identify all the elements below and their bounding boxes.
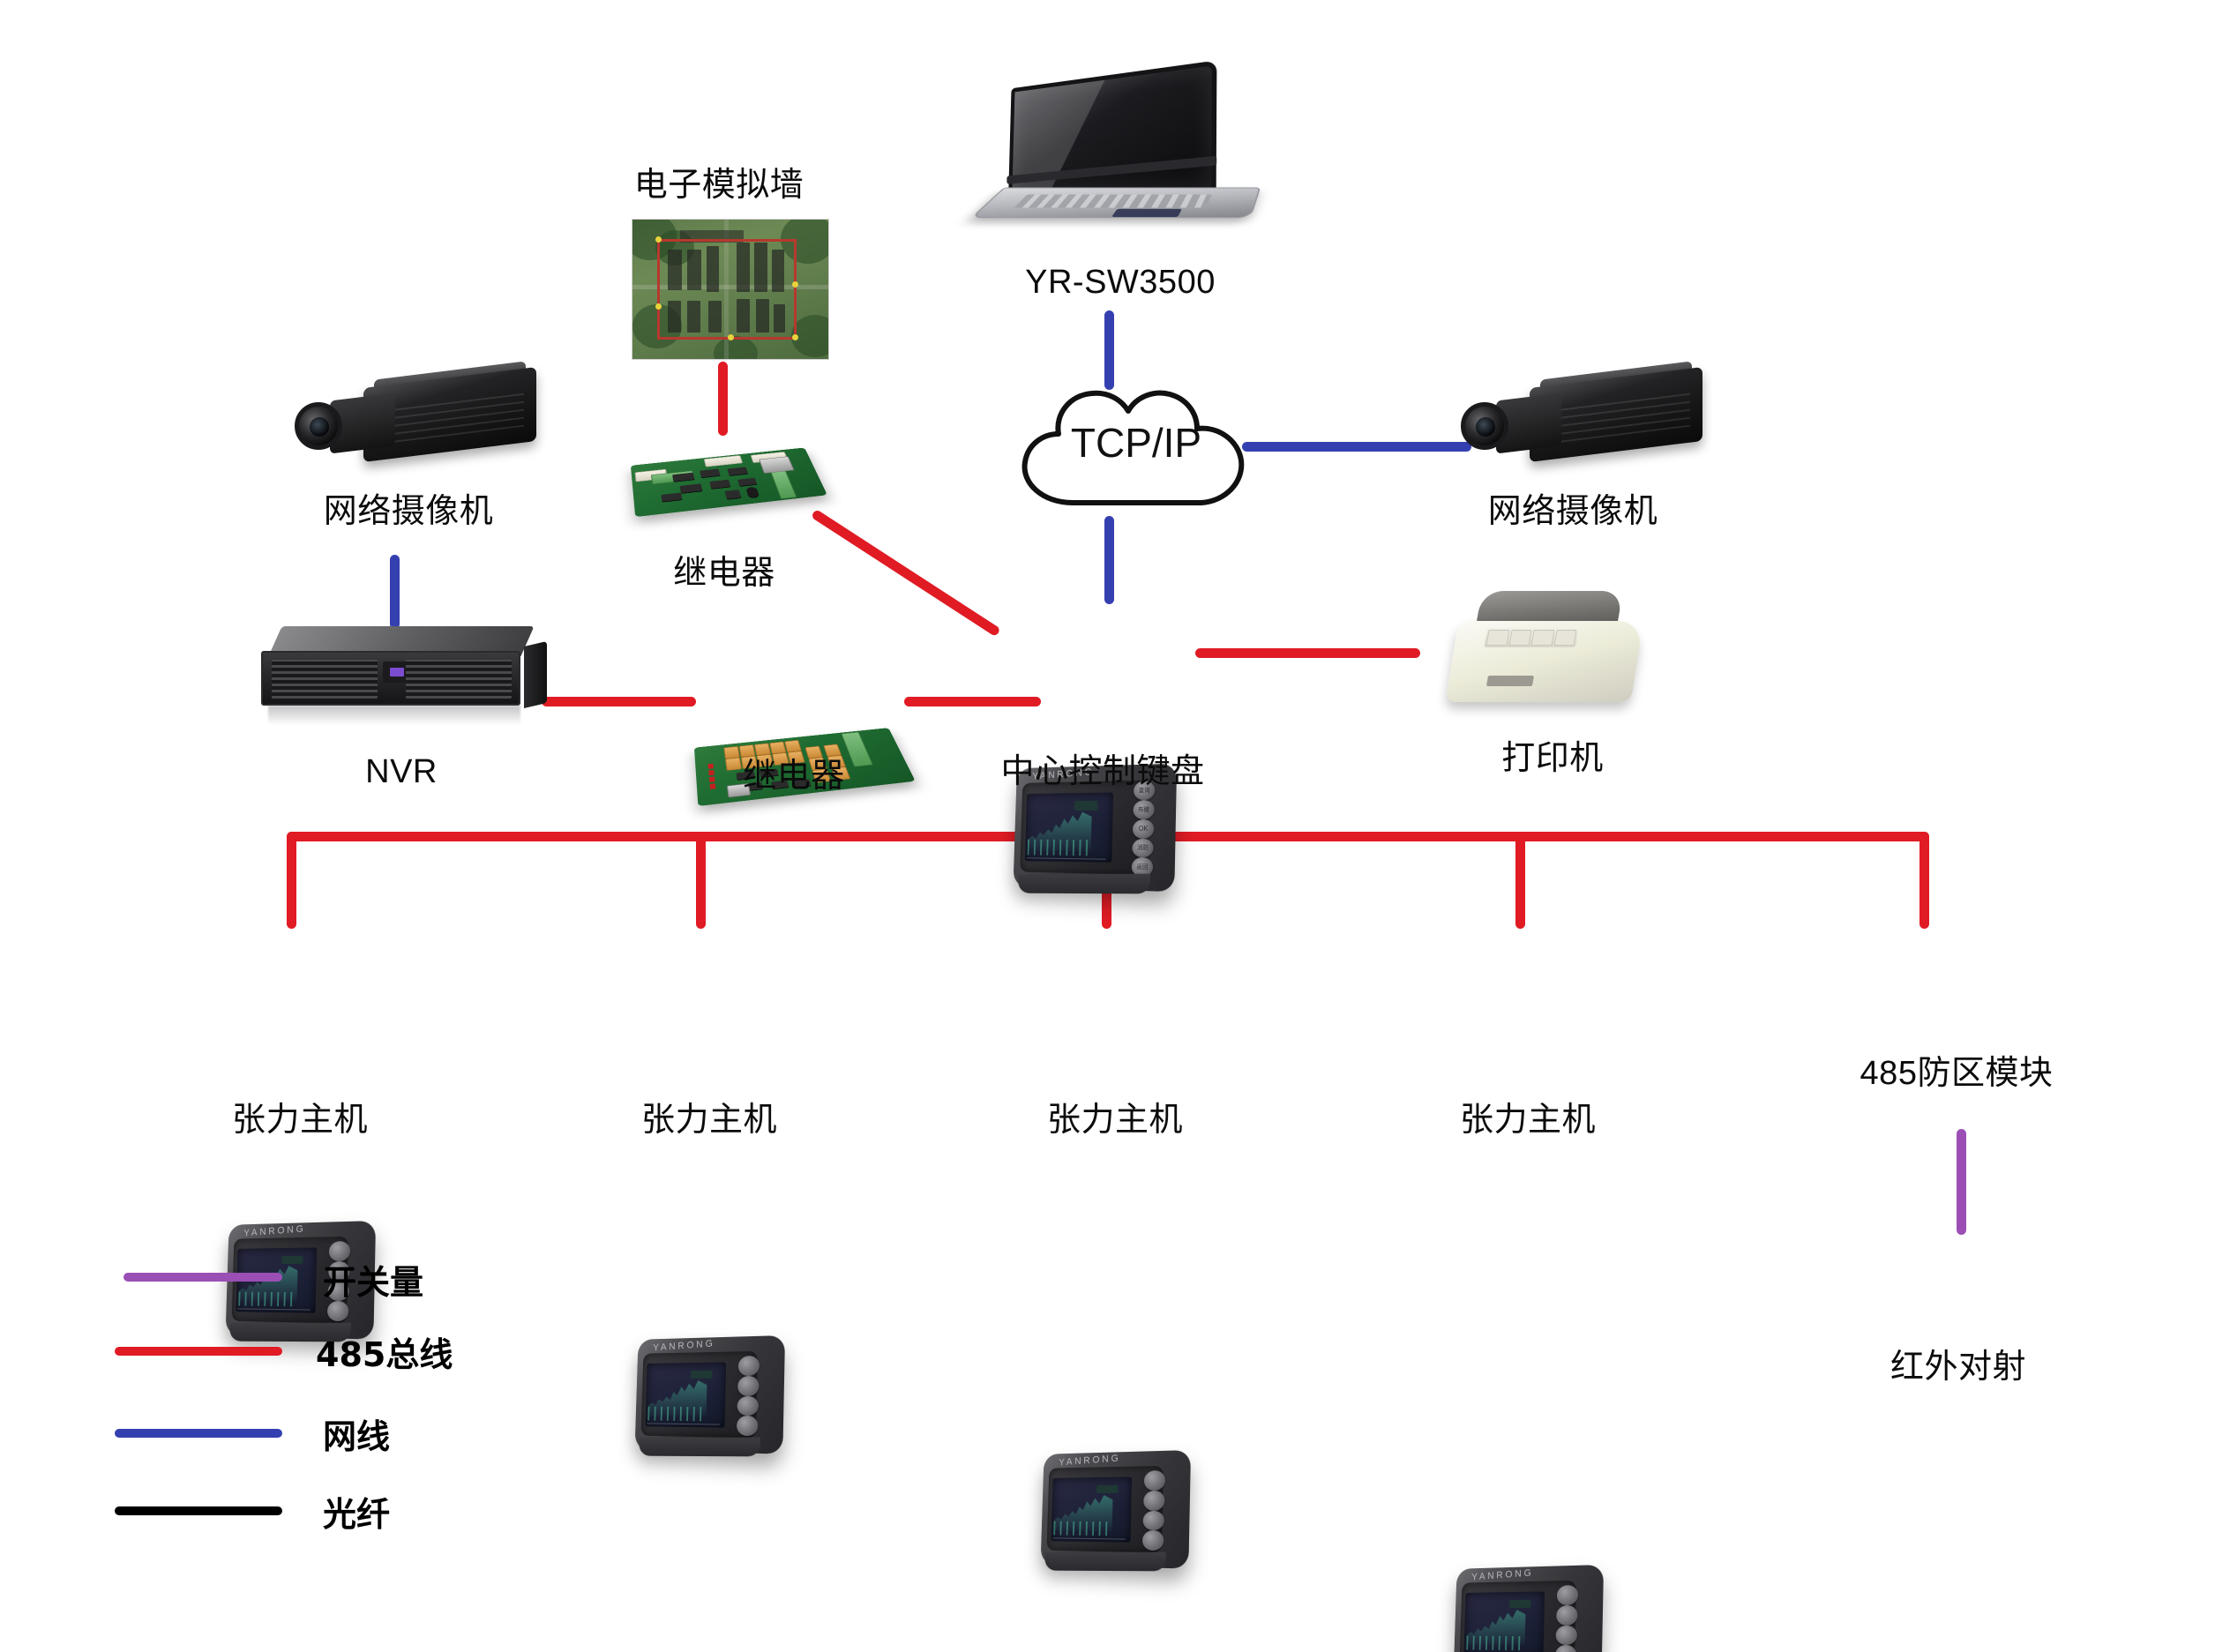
label-sim-wall: 电子模拟墙 <box>609 168 829 205</box>
node-tension-host[interactable]: YANRONG <box>1034 1452 1193 1566</box>
label-tension-host: 张力主机 <box>216 1103 384 1140</box>
tension-host-button-4[interactable] <box>1555 1645 1577 1652</box>
tension-host-buttons[interactable] <box>1555 1585 1578 1652</box>
label-relay-bottom: 继电器 <box>688 759 900 796</box>
aerial-map-icon <box>632 219 829 360</box>
label-relay-top: 继电器 <box>623 556 826 593</box>
tension-host-button-4[interactable] <box>327 1301 349 1321</box>
label-center-keypad: 中心控制键盘 <box>988 754 1217 791</box>
node-tension-host[interactable]: YANRONG <box>1447 1566 1605 1652</box>
legend-swatch-fiber <box>115 1506 282 1515</box>
tension-host-buttons[interactable] <box>1142 1470 1165 1551</box>
box-camera-icon <box>281 370 536 485</box>
legend-label-rs485: 485总线 <box>316 1327 453 1376</box>
keypad-screen <box>1024 792 1112 863</box>
tension-host-button-3[interactable] <box>737 1395 760 1416</box>
box-camera-icon <box>1447 370 1702 485</box>
wire-simwall-to-relay-top <box>718 362 728 436</box>
tension-host-button-2[interactable] <box>737 1376 760 1396</box>
tension-host-button-2[interactable] <box>1143 1491 1165 1511</box>
tension-host-button-1[interactable] <box>1557 1585 1579 1605</box>
label-tension-host: 张力主机 <box>1444 1103 1612 1140</box>
node-printer[interactable] <box>1447 591 1658 723</box>
node-camera-left[interactable] <box>281 370 536 485</box>
bus-drop-2 <box>696 832 706 929</box>
tension-host-button-3[interactable] <box>1556 1625 1578 1645</box>
label-tension-host: 张力主机 <box>625 1103 793 1140</box>
wire-nvr-to-relay-bottom <box>542 697 696 706</box>
bus-drop-4 <box>1515 832 1525 929</box>
printer-icon <box>1447 591 1658 723</box>
label-camera-right: 网络摄像机 <box>1445 494 1701 531</box>
node-cloud: TCP/IP <box>1004 370 1268 520</box>
cloud-label: TCP/IP <box>1004 370 1268 520</box>
node-camera-right[interactable] <box>1447 370 1702 485</box>
legend-label-fiber: 光纤 <box>323 1487 390 1536</box>
wire-cloud-to-keypad <box>1104 516 1114 604</box>
tension-host-screen <box>1464 1591 1545 1652</box>
bus-drop-5 <box>1919 832 1929 929</box>
node-tension-host[interactable]: YANRONG <box>628 1337 787 1452</box>
node-relay-top[interactable] <box>633 439 819 520</box>
keypad-button-4[interactable]: 消防 <box>1132 838 1154 857</box>
keypad-buttons[interactable]: 查询 布撤 OK 消防 返回 <box>1131 781 1155 878</box>
legend-swatch-rs485 <box>115 1347 282 1356</box>
tension-host-button-4[interactable] <box>737 1416 759 1436</box>
tension-host-button-3[interactable] <box>1143 1510 1165 1530</box>
node-nvr[interactable] <box>256 626 547 732</box>
label-nvr: NVR <box>265 754 538 791</box>
keypad-button-ok[interactable]: OK <box>1132 819 1154 838</box>
tension-host-button-1[interactable] <box>1144 1470 1166 1491</box>
bus-drop-1 <box>287 832 296 929</box>
legend-label-switch: 开关量 <box>323 1255 423 1304</box>
wire-module485-to-ir <box>1957 1129 1966 1235</box>
tension-host-button-4[interactable] <box>1142 1530 1164 1551</box>
legend-swatch-switch <box>123 1273 282 1282</box>
legend-swatch-ethernet <box>115 1429 282 1438</box>
tension-host-button-1[interactable] <box>738 1356 760 1376</box>
tension-host-buttons[interactable] <box>737 1356 760 1436</box>
wire-relay-bottom-to-keypad <box>904 697 1041 706</box>
tension-host-screen <box>1051 1476 1133 1542</box>
tension-host-button-2[interactable] <box>1556 1605 1578 1626</box>
wire-camera-left-to-nvr <box>390 555 400 629</box>
label-ir-beam: 红外对射 <box>1861 1349 2055 1387</box>
laptop-icon <box>981 75 1263 234</box>
nvr-icon <box>256 626 547 732</box>
label-printer: 打印机 <box>1455 741 1650 778</box>
wire-keypad-to-printer <box>1195 648 1420 658</box>
label-module-485: 485防区模块 <box>1833 1056 2080 1093</box>
label-laptop: YR-SW3500 <box>1001 265 1239 302</box>
label-camera-left: 网络摄像机 <box>281 494 536 531</box>
tension-host-screen <box>646 1362 727 1427</box>
wire-cloud-to-camera-right <box>1242 442 1471 452</box>
wire-relay-top-to-keypad <box>811 509 1001 637</box>
label-tension-host: 张力主机 <box>1031 1103 1199 1140</box>
topology-diagram: YR-SW3500 TCP/IP 网络摄像机 网络摄像机 <box>0 0 2230 1652</box>
keypad-button-2[interactable]: 布撤 <box>1133 800 1155 819</box>
legend-label-ethernet: 网线 <box>323 1409 390 1458</box>
node-laptop[interactable] <box>981 75 1263 234</box>
